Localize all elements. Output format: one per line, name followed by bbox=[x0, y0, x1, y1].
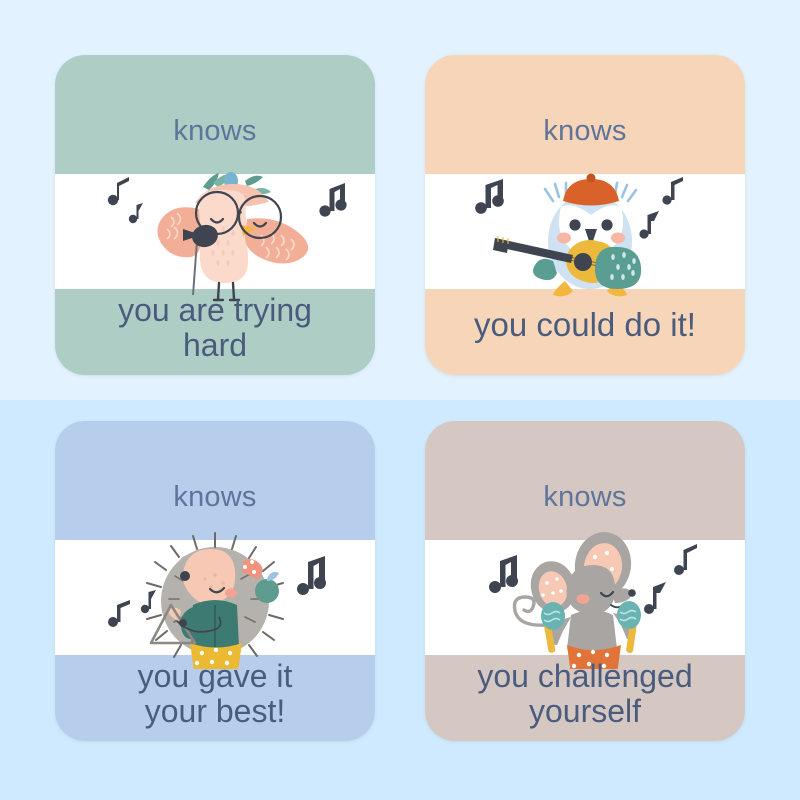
card-challenged-yourself[interactable]: knows you challenged yourself bbox=[425, 421, 745, 741]
illustration-mouse-with-maracas bbox=[425, 529, 745, 669]
card-gave-your-best[interactable]: knows you gave it your best! bbox=[55, 421, 375, 741]
illustration-owl-playing-guitar bbox=[425, 163, 745, 303]
poster-canvas: knows you are trying hard bbox=[0, 0, 800, 800]
card-trying-hard[interactable]: knows you are trying hard bbox=[55, 55, 375, 375]
card-heading: knows bbox=[425, 117, 745, 146]
card-message: you gave it your best! bbox=[55, 659, 375, 728]
card-heading: knows bbox=[55, 483, 375, 512]
card-heading: knows bbox=[55, 117, 375, 146]
illustration-owl-with-glasses-singing-microphone bbox=[55, 163, 375, 303]
card-could-do-it[interactable]: knows you could do it! bbox=[425, 55, 745, 375]
card-message: you are trying hard bbox=[55, 293, 375, 362]
card-message: you could do it! bbox=[425, 307, 745, 343]
illustration-hedgehog-playing-triangle bbox=[55, 529, 375, 669]
card-message: you challenged yourself bbox=[425, 659, 745, 728]
card-heading: knows bbox=[425, 483, 745, 512]
